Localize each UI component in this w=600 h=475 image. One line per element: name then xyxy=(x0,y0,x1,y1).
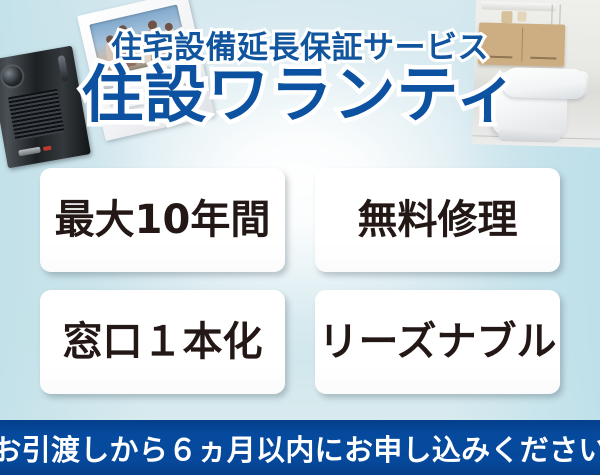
warranty-promo-banner: 住宅設備延長保証サービス 住設ワランティ 最大10年間 無料修理 窓口１本化 リ… xyxy=(0,0,600,475)
application-deadline-banner: お引渡しから６ヵ月以内にお申し込みください xyxy=(0,420,600,475)
doorbell-button xyxy=(18,147,41,157)
product-title: 住設ワランティ xyxy=(0,62,600,127)
feature-label: 無料修理 xyxy=(358,200,518,240)
shelf-jar xyxy=(517,11,526,21)
toilet-base xyxy=(498,129,560,143)
feature-label: リーズナブル xyxy=(319,322,557,362)
outdoor-unit-indicator xyxy=(43,146,52,151)
feature-box-duration: 最大10年間 xyxy=(40,168,285,272)
feature-label: 最大10年間 xyxy=(55,200,271,240)
feature-grid: 最大10年間 無料修理 窓口１本化 リーズナブル xyxy=(40,168,560,394)
feature-box-reasonable: リーズナブル xyxy=(315,290,560,394)
feature-box-single-contact: 窓口１本化 xyxy=(40,290,285,394)
application-deadline-text: お引渡しから６ヵ月以内にお申し込みください xyxy=(0,427,600,469)
feature-label: 窓口１本化 xyxy=(63,322,263,362)
feature-box-free-repair: 無料修理 xyxy=(315,168,560,272)
